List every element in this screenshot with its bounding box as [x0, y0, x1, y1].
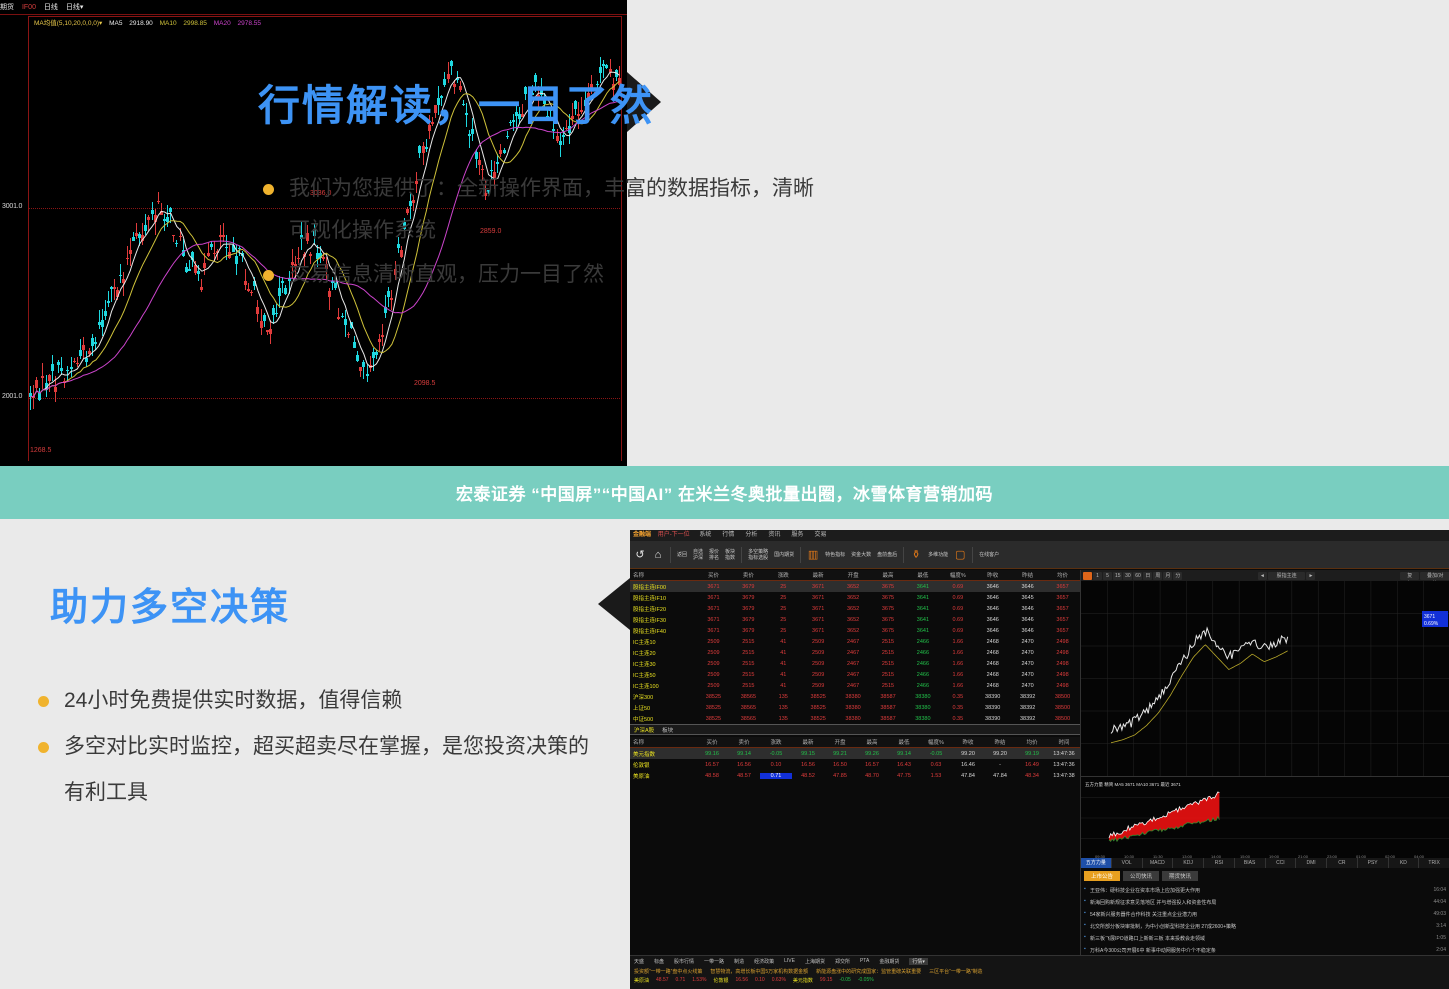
table-cell: 3657 — [1045, 617, 1080, 623]
table-cell: 3675 — [871, 628, 906, 634]
table-cell: 38390 — [975, 716, 1010, 722]
statusbar-headline[interactable]: 三区平台“一带一路”制造 — [929, 968, 982, 975]
table-cell: 99.15 — [792, 751, 824, 757]
table-cell: 1.66 — [940, 650, 975, 656]
column-header[interactable]: 昨收 — [975, 571, 1010, 579]
flask-button[interactable]: ⚱ — [910, 549, 922, 561]
indicator-tab-RSI[interactable]: RSI — [1204, 858, 1235, 868]
table-cell: 2470 — [1010, 650, 1045, 656]
column-header[interactable]: 最高 — [871, 571, 906, 579]
indicator-tab-BIAS[interactable]: BIAS — [1235, 858, 1266, 868]
toolbar-button-label: 报价排名 — [709, 549, 719, 561]
table-cell: 2498 — [1045, 650, 1080, 656]
statusbar-category[interactable]: 天盛 — [634, 958, 644, 965]
menu-item[interactable]: 系统 — [699, 532, 711, 538]
toolbar-button-label: 特色指标 — [825, 552, 845, 558]
trading-terminal-screenshot: 金融端 用户-下一位 系统行情分析资讯服务交易 ↺⌂返回自选沪深报价排名板块指数… — [630, 530, 1449, 989]
table-cell: 3652 — [836, 617, 871, 623]
column-header[interactable]: 卖价 — [731, 571, 766, 579]
news-time: 44:04 — [1433, 899, 1446, 906]
banner-headline: 宏泰证券 “中国屏”“中国AI” 在米兰冬奥批量出圈，冰雪体育营销加码 — [456, 480, 993, 505]
menu-item[interactable]: 服务 — [791, 532, 803, 538]
table-cell: 2467 — [836, 683, 871, 689]
table-row[interactable]: 美原油48.5848.570.7148.5247.8548.7047.751.5… — [630, 770, 1080, 781]
toolbar-button-5[interactable]: 板块指数 — [725, 549, 735, 561]
column-header[interactable]: 昨收 — [952, 738, 984, 746]
menu-item[interactable]: 分析 — [745, 532, 757, 538]
news-item[interactable]: 王亚伟：硬科技企业在资本市场上应加强更大作用16:04 — [1081, 884, 1449, 896]
table-cell: 3646 — [975, 617, 1010, 623]
table-cell: 股指主连IF20 — [630, 605, 696, 613]
statusbar-quote: 48.57 — [656, 977, 669, 984]
period-button-5[interactable]: 5 — [1103, 572, 1112, 580]
table-cell: 2466 — [905, 683, 940, 689]
table-cell: -0.05 — [760, 751, 792, 757]
table-cell: 3646 — [975, 595, 1010, 601]
next-symbol-button[interactable]: ► — [1306, 572, 1315, 580]
news-tab[interactable]: 上市公告 — [1084, 871, 1120, 881]
table-cell: 2498 — [1045, 683, 1080, 689]
table-cell: 38380 — [905, 694, 940, 700]
table-cell: 0.71 — [760, 773, 792, 779]
statusbar-quote: 0.63% — [772, 977, 786, 984]
table-cell: 38380 — [905, 705, 940, 711]
statusbar-quote: 伦敦银 — [713, 977, 728, 984]
table-cell: 2509 — [696, 661, 731, 667]
chart-option-button[interactable]: 复权 — [1400, 572, 1419, 580]
list-item: 我们为您提供了：全新操作界面，丰富的数据指标，清晰可视化操作系统 — [257, 168, 817, 252]
symbol-label[interactable]: 股指主连IF00 — [1268, 572, 1306, 580]
statusbar-quote: 16.56 — [735, 977, 748, 984]
statusbar-headline[interactable]: 智慧物流，高增长板中国5万家机构数据金额 — [710, 968, 808, 975]
news-title: 新海回购新规征求意见落地区 并与增强投入和资金性布局 — [1090, 899, 1216, 906]
statusbar-category[interactable]: LIVE — [784, 958, 795, 965]
table-cell: IC主连30 — [630, 660, 696, 668]
table-cell: 2467 — [836, 672, 871, 678]
toolbar-button-13[interactable]: 多维功能 — [928, 552, 948, 558]
column-header[interactable]: 幅度% — [920, 738, 952, 746]
table-row[interactable]: IC主连100250925154125092467251524661.66246… — [630, 680, 1080, 691]
toolbar-button-label: 返回 — [677, 552, 687, 558]
table-row[interactable]: 股指主连IF00367136792536713652367536410.6936… — [630, 581, 1080, 592]
statusbar-category[interactable]: 制造 — [734, 958, 744, 965]
table-cell: 1.66 — [940, 639, 975, 645]
table-cell: 38525 — [696, 716, 731, 722]
table-cell: 0.69 — [940, 595, 975, 601]
table-cell: 99.16 — [696, 751, 728, 757]
news-time: 3:14 — [1436, 923, 1446, 930]
table-cell: 3671 — [801, 606, 836, 612]
table-cell: 3657 — [1045, 595, 1080, 601]
toolbar-button-11[interactable]: 盘前盘后 — [877, 552, 897, 558]
toolbar-button-label: 多空策略指标选股 — [748, 549, 768, 561]
table-cell: 135 — [766, 705, 801, 711]
statusbar-row-headlines[interactable]: 投资额“一带一路”盘中点火线策智慧物流，高增长板中国5万家机构数据金额新能源盘涨… — [630, 967, 1449, 976]
column-header[interactable]: 均价 — [1045, 571, 1080, 579]
top-bullet-list: 我们为您提供了：全新操作界面，丰富的数据指标，清晰可视化操作系统 交易信息清晰直… — [257, 168, 817, 298]
period-button-周[interactable]: 周 — [1153, 572, 1162, 580]
chart-period-dropdown[interactable]: 日线▾ — [66, 4, 84, 11]
statusbar-quote: 美原油 — [634, 977, 649, 984]
table-cell: 2515 — [731, 650, 766, 656]
toolbar-button-15[interactable]: 在线客户 — [979, 552, 999, 558]
table-cell: 股指主连IF00 — [630, 583, 696, 591]
bottom-headline: 助力多空决策 — [50, 576, 290, 631]
news-item[interactable]: 北交所部分板块审批制，为中小创新型科技企业用 27成2600+策略3:14 — [1081, 920, 1449, 932]
statusbar-dropdown[interactable]: 行情▾ — [909, 958, 928, 965]
table-cell: 2467 — [836, 650, 871, 656]
table-cell: 3671 — [801, 584, 836, 590]
indicator-tab-PSY[interactable]: PSY — [1358, 858, 1389, 868]
table-cell: 2509 — [696, 650, 731, 656]
table-cell: 38587 — [871, 705, 906, 711]
table-row[interactable]: 伦敦银16.5716.560.1016.5616.5016.5716.430.6… — [630, 759, 1080, 770]
toolbar-divider — [972, 547, 973, 563]
toolbar-button-10[interactable]: 资金大数 — [851, 552, 871, 558]
period-buttons[interactable]: 15153060日周月分◄股指主连IF00►复权叠加/对比 — [1081, 570, 1449, 581]
screen-button[interactable]: ▢ — [954, 549, 966, 561]
news-time: 2:04 — [1436, 947, 1446, 954]
column-header[interactable]: 昨结 — [984, 738, 1016, 746]
toolbar-button-9[interactable]: 特色指标 — [825, 552, 845, 558]
column-header[interactable]: 名称 — [630, 571, 696, 579]
table-cell: 47.84 — [952, 773, 984, 779]
menu-item[interactable]: 交易 — [814, 532, 826, 538]
table-cell: 38500 — [1045, 716, 1080, 722]
news-time: 49:03 — [1433, 911, 1446, 918]
table-cell: 3652 — [836, 584, 871, 590]
table-cell: 48.57 — [728, 773, 760, 779]
table-cell: 2515 — [731, 661, 766, 667]
indicator-tab-MACD[interactable]: MACD — [1143, 858, 1174, 868]
table-cell: 16.50 — [824, 762, 856, 768]
toolbar-button-6[interactable]: 多空策略指标选股 — [748, 549, 768, 561]
table-cell: 3645 — [1010, 595, 1045, 601]
table-cell: IC主连50 — [630, 671, 696, 679]
column-header[interactable]: 名称 — [630, 738, 696, 746]
indicator-tab-TRIX[interactable]: TRIX — [1419, 858, 1449, 868]
table-cell: 38380 — [836, 694, 871, 700]
table-cell: 3671 — [801, 595, 836, 601]
period-button-active[interactable] — [1083, 572, 1092, 580]
period-button-分[interactable]: 分 — [1173, 572, 1182, 580]
table-cell: 41 — [766, 639, 801, 645]
table-row[interactable]: 股指主连IF10367136792536713652367536410.6936… — [630, 592, 1080, 603]
table-cell: 2470 — [1010, 672, 1045, 678]
column-header[interactable]: 时间 — [1048, 738, 1080, 746]
column-header[interactable]: 开盘 — [824, 738, 856, 746]
bottom-bullet-list: 24小时免费提供实时数据，值得信赖 多空对比实时监控，超买超卖尽在掌握，是您投资… — [32, 678, 602, 816]
undo-button[interactable]: ↺ — [634, 549, 646, 561]
table-cell: 16.43 — [888, 762, 920, 768]
table-row[interactable]: 中证5003852538565135385253838038587383800.… — [630, 713, 1080, 724]
table-cell: 48.52 — [792, 773, 824, 779]
table-cell: 47.75 — [888, 773, 920, 779]
indicator-tabs[interactable]: 五方力量VOLMACDKDJRSIBIASCCIDMICRPSYKDTRIX — [1081, 858, 1449, 868]
indicator-tab-DMI[interactable]: DMI — [1296, 858, 1327, 868]
table-cell: 1.66 — [940, 683, 975, 689]
chart-titlebar: 期货 IF00 日线 日线▾ — [0, 0, 627, 15]
table-cell: 0.69 — [940, 606, 975, 612]
table-cell: 2467 — [836, 639, 871, 645]
menu-item[interactable]: 行情 — [722, 532, 734, 538]
table-cell: IC主连100 — [630, 682, 696, 690]
table-cell: IC主连10 — [630, 638, 696, 646]
period-button-日[interactable]: 日 — [1143, 572, 1152, 580]
subtab[interactable]: 沪深A股 — [634, 726, 654, 734]
table-cell: 99.26 — [856, 751, 888, 757]
table-row[interactable]: IC主连30250925154125092467251524661.662468… — [630, 658, 1080, 669]
table-cell: 135 — [766, 716, 801, 722]
column-header[interactable]: 最新 — [792, 738, 824, 746]
table-cell: 38565 — [731, 716, 766, 722]
table-cell: 38390 — [975, 694, 1010, 700]
news-title: 新三板飞展IPO道路口上新新三板 本来投教会走领域 — [1090, 935, 1205, 942]
quote-table-subtabs[interactable]: 沪深A股板块 — [630, 724, 1080, 735]
table-cell: 1.66 — [940, 672, 975, 678]
table-cell: 3646 — [1010, 628, 1045, 634]
table-cell: 2468 — [975, 683, 1010, 689]
statusbar-quote: -0.05 — [839, 977, 850, 984]
table-cell: 3679 — [731, 617, 766, 623]
column-header[interactable]: 最低 — [888, 738, 920, 746]
statusbar-row-quotes: 美原油48.570.711.53%伦敦银16.560.100.63%美元指数99… — [630, 976, 1449, 985]
table-header-row: 名称买价卖价涨跌最新开盘最高最低幅度%昨收昨结均价 — [630, 570, 1080, 581]
table-cell: 99.19 — [1016, 751, 1048, 757]
table-cell: 2515 — [871, 650, 906, 656]
toolbar-button-2[interactable]: 返回 — [677, 552, 687, 558]
period-button-15[interactable]: 15 — [1113, 572, 1122, 580]
column-header[interactable]: 均价 — [1016, 738, 1048, 746]
table-cell: 99.20 — [952, 751, 984, 757]
column-header[interactable]: 买价 — [696, 738, 728, 746]
quote-table-secondary[interactable]: 名称买价卖价涨跌最新开盘最高最低幅度%昨收昨结均价时间美元指数99.1699.1… — [630, 737, 1080, 781]
table-cell: 38525 — [801, 705, 836, 711]
statusbar-category[interactable]: 标盘 — [654, 958, 664, 965]
table-cell: 38392 — [1010, 694, 1045, 700]
table-cell: 3671 — [801, 617, 836, 623]
table-cell: 2468 — [975, 639, 1010, 645]
slide-page: 期货 IF00 日线 日线▾ MA均值(5,10,20,0,0,0)▾ MA5 … — [0, 0, 1449, 989]
indicator-tab-VOL[interactable]: VOL — [1112, 858, 1143, 868]
table-cell: 2515 — [731, 683, 766, 689]
screen-icon: ▢ — [954, 549, 966, 561]
statusbar-headline[interactable]: 新能源盘涨中的研究成国家：监管重磅关联重要 — [816, 968, 921, 975]
table-cell: IC主连20 — [630, 649, 696, 657]
statusbar-category[interactable]: 郑交所 — [835, 958, 850, 965]
column-header[interactable]: 昨结 — [1010, 571, 1045, 579]
column-header[interactable]: 卖价 — [728, 738, 760, 746]
statusbar-quote: 99.15 — [820, 977, 833, 984]
table-cell: 2509 — [696, 639, 731, 645]
table-cell: 3679 — [731, 595, 766, 601]
indicator-tab-KDJ[interactable]: KDJ — [1173, 858, 1204, 868]
table-row[interactable]: 上证503852538565135385253838038587383800.3… — [630, 702, 1080, 713]
table-cell: 25 — [766, 606, 801, 612]
table-cell: 股指主连IF40 — [630, 627, 696, 635]
table-cell: 99.20 — [984, 751, 1016, 757]
table-cell: 中证500 — [630, 715, 696, 723]
news-tab[interactable]: 期货快讯 — [1162, 871, 1198, 881]
table-cell: 股指主连IF30 — [630, 616, 696, 624]
statusbar-category[interactable]: 经济政策 — [754, 958, 774, 965]
chart-option-button[interactable]: 叠加/对比 — [1420, 572, 1449, 580]
indicator-tab-CR[interactable]: CR — [1327, 858, 1358, 868]
toolbar-divider — [903, 547, 904, 563]
table-cell: 16.56 — [728, 762, 760, 768]
table-cell: 3675 — [871, 595, 906, 601]
table-cell: 99.14 — [728, 751, 760, 757]
table-cell: 38380 — [905, 716, 940, 722]
table-cell: 3641 — [905, 584, 940, 590]
table-row[interactable]: IC主连20250925154125092467251524661.662468… — [630, 647, 1080, 658]
table-cell: 美元指数 — [630, 750, 696, 758]
table-cell: 3657 — [1045, 584, 1080, 590]
terminal-account-label[interactable]: 用户-下一位 — [658, 532, 690, 538]
table-cell: 3671 — [801, 628, 836, 634]
table-row[interactable]: IC主连50250925154125092467251524661.662468… — [630, 669, 1080, 680]
news-title: 北交所部分板块审批制，为中小创新型科技企业用 27成2600+策略 — [1090, 923, 1236, 930]
chart-button[interactable]: ▥ — [807, 549, 819, 561]
table-row[interactable]: IC主连10250925154125092467251524661.662468… — [630, 636, 1080, 647]
list-item: 24小时免费提供实时数据，值得信赖 — [32, 678, 602, 724]
quote-table[interactable]: 名称买价卖价涨跌最新开盘最高最低幅度%昨收昨结均价股指主连IF003671367… — [630, 570, 1080, 724]
toolbar-button-label: 自选沪深 — [693, 549, 703, 561]
table-cell: 2467 — [836, 661, 871, 667]
statusbar-category[interactable]: 一带一路 — [704, 958, 724, 965]
table-row[interactable]: 股指主连IF20367136792536713652367536410.6936… — [630, 603, 1080, 614]
table-cell: - — [984, 762, 1016, 768]
home-icon: ⌂ — [652, 549, 664, 561]
table-cell: 2468 — [975, 650, 1010, 656]
column-header[interactable]: 最高 — [856, 738, 888, 746]
table-row[interactable]: 沪深3003852538565135385253838038587383800.… — [630, 691, 1080, 702]
table-cell: 25 — [766, 584, 801, 590]
home-button[interactable]: ⌂ — [652, 549, 664, 561]
green-banner: 宏泰证券 “中国屏”“中国AI” 在米兰冬奥批量出圈，冰雪体育营销加码 — [0, 466, 1449, 519]
statusbar-category[interactable]: PTA — [860, 958, 869, 965]
table-cell: 0.35 — [940, 705, 975, 711]
table-cell: 2509 — [801, 672, 836, 678]
table-cell: 38565 — [731, 694, 766, 700]
column-header[interactable]: 最低 — [905, 571, 940, 579]
table-cell: 16.57 — [696, 762, 728, 768]
period-button-月[interactable]: 月 — [1163, 572, 1172, 580]
table-cell: 2515 — [871, 661, 906, 667]
news-item[interactable]: 新海回购新规征求意见落地区 并与增强投入和资金性布局44:04 — [1081, 896, 1449, 908]
news-tabs[interactable]: 上市公告公司快讯期货快讯 — [1081, 870, 1449, 882]
table-cell: 3657 — [1045, 606, 1080, 612]
table-cell: 3657 — [1045, 628, 1080, 634]
statusbar-category[interactable]: 股市行情 — [674, 958, 694, 965]
table-cell: 1.53 — [920, 773, 952, 779]
news-item[interactable]: 新三板飞展IPO道路口上新新三板 本来投教会走领域1:05 — [1081, 932, 1449, 944]
toolbar-button-7[interactable]: 国内期货 — [774, 552, 794, 558]
table-cell: 25 — [766, 595, 801, 601]
toolbar-divider — [670, 547, 671, 563]
statusbar-row-categories[interactable]: 天盛标盘股市行情一带一路制造经济政策LIVE上海期货郑交所PTA金融期货行情▾ — [630, 956, 1449, 967]
column-header[interactable]: 幅度% — [940, 571, 975, 579]
table-cell: 3652 — [836, 606, 871, 612]
table-cell: 38392 — [1010, 705, 1045, 711]
table-cell: 股指主连IF10 — [630, 594, 696, 602]
top-headline: 行情解读，一目了然 — [258, 72, 654, 133]
column-header[interactable]: 开盘 — [836, 571, 871, 579]
subtab[interactable]: 板块 — [662, 726, 673, 734]
table-cell: 38587 — [871, 716, 906, 722]
menu-item[interactable]: 资讯 — [768, 532, 780, 538]
period-button-1[interactable]: 1 — [1093, 572, 1102, 580]
table-cell: 2470 — [1010, 639, 1045, 645]
table-cell: 3671 — [696, 595, 731, 601]
table-cell: 38587 — [871, 694, 906, 700]
table-cell: 48.70 — [856, 773, 888, 779]
terminal-indicator-chart: 五方力量 精简 MA5 3671 MA10 3671 最近 367109:301… — [1081, 776, 1449, 858]
table-cell: 41 — [766, 683, 801, 689]
toolbar-button-3[interactable]: 自选沪深 — [693, 549, 703, 561]
table-cell: 13:47:36 — [1048, 751, 1080, 757]
table-cell: 48.58 — [696, 773, 728, 779]
statusbar-category[interactable]: 金融期货 — [879, 958, 899, 965]
flask-icon: ⚱ — [910, 549, 922, 561]
svg-text:3671: 3671 — [1424, 614, 1435, 620]
period-button-60[interactable]: 60 — [1133, 572, 1142, 580]
table-cell: 13:47:38 — [1048, 773, 1080, 779]
table-row[interactable]: 美元指数99.1699.14-0.0599.1599.2199.2699.14-… — [630, 748, 1080, 759]
table-cell: 2515 — [871, 683, 906, 689]
toolbar-divider — [741, 547, 742, 563]
column-header[interactable]: 涨跌 — [766, 571, 801, 579]
statusbar-quote: 0.10 — [755, 977, 765, 984]
table-cell: 3679 — [731, 584, 766, 590]
statusbar-quote: -0.05% — [858, 977, 874, 984]
table-cell: 伦敦银 — [630, 761, 696, 769]
table-cell: 2509 — [696, 672, 731, 678]
column-header[interactable]: 买价 — [696, 571, 731, 579]
table-cell: 38380 — [836, 716, 871, 722]
statusbar-quote: 美元指数 — [793, 977, 813, 984]
news-item[interactable]: 54家新兴服务器件合作科技 关注重点企业潜力用49:03 — [1081, 908, 1449, 920]
table-cell: 47.85 — [824, 773, 856, 779]
terminal-menu-items[interactable]: 系统行情分析资讯服务交易 — [699, 532, 837, 538]
y-axis-tick: 2001.0 — [2, 393, 22, 400]
table-cell: 16.46 — [952, 762, 984, 768]
statusbar-headline[interactable]: 投资额“一带一路”盘中点火线策 — [634, 968, 702, 975]
table-cell: 2515 — [871, 672, 906, 678]
prev-symbol-button[interactable]: ◄ — [1258, 572, 1267, 580]
statusbar-category[interactable]: 上海期货 — [805, 958, 825, 965]
toolbar-divider — [800, 547, 801, 563]
terminal-toolbar[interactable]: ↺⌂返回自选沪深报价排名板块指数多空策略指标选股国内期货▥特色指标资金大数盘前盘… — [630, 541, 1449, 569]
toolbar-button-4[interactable]: 报价排名 — [709, 549, 719, 561]
indicator-tab-KD[interactable]: KD — [1389, 858, 1420, 868]
indicator-tab-CCI[interactable]: CCI — [1266, 858, 1297, 868]
table-row[interactable]: 股指主连IF30367136792536713652367536410.6936… — [630, 614, 1080, 625]
period-button-30[interactable]: 30 — [1123, 572, 1132, 580]
table-row[interactable]: 股指主连IF40367136792536713652367536410.6936… — [630, 625, 1080, 636]
column-header[interactable]: 最新 — [801, 571, 836, 579]
toolbar-button-label: 资金大数 — [851, 552, 871, 558]
indicator-tab-五方力量[interactable]: 五方力量 — [1081, 858, 1112, 868]
table-cell: 3641 — [905, 628, 940, 634]
table-cell: 2468 — [975, 661, 1010, 667]
column-header[interactable]: 涨跌 — [760, 738, 792, 746]
table-cell: 3671 — [696, 617, 731, 623]
table-cell: 38525 — [801, 716, 836, 722]
news-tab[interactable]: 公司快讯 — [1123, 871, 1159, 881]
news-title: 王亚伟：硬科技企业在资本市场上应加强更大作用 — [1090, 887, 1200, 894]
terminal-main-chart: 36710.69% — [1081, 581, 1449, 776]
